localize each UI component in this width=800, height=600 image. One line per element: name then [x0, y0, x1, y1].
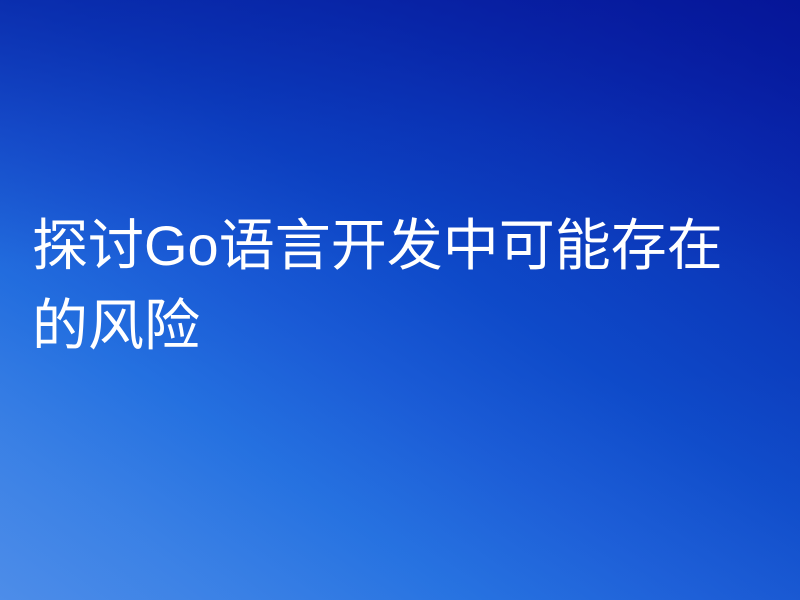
- slide-root: 探讨Go语言开发中可能存在的风险: [0, 0, 800, 600]
- title-block: 探讨Go语言开发中可能存在的风险: [32, 206, 776, 366]
- slide-title: 探讨Go语言开发中可能存在的风险: [32, 206, 776, 366]
